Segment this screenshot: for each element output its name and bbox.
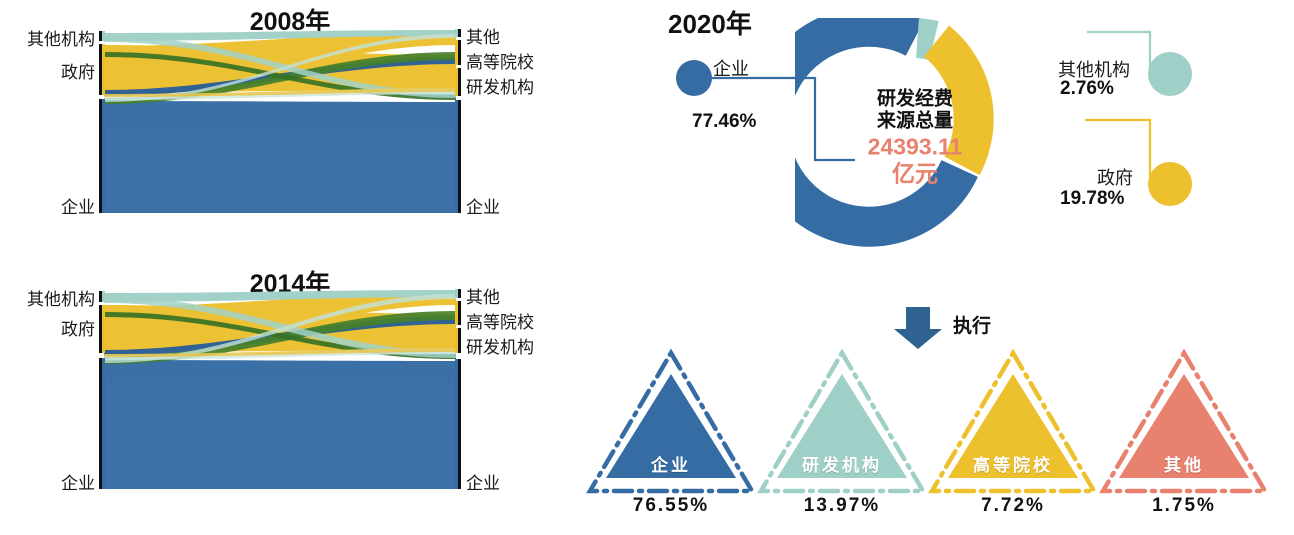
sankey-2008-canvas: [0, 0, 560, 240]
legend-percent-other-inst: 2.76%: [1060, 78, 1114, 100]
sankey-2008: 2008年 其他机构 政府 企业 其他 高等院校 研发机构 企业: [0, 0, 560, 240]
legend-percent-enterprise: 77.46%: [692, 111, 756, 133]
triangle-percent-other: 1.75%: [1099, 495, 1269, 517]
sankey-2014-canvas: [0, 264, 560, 516]
triangle-card-enterprise: 企业: [586, 348, 756, 498]
donut-leader-lines: [640, 0, 1294, 290]
triangle-label-other: 其他: [1099, 451, 1269, 476]
triangle-label-rnd-inst: 研发机构: [757, 451, 927, 476]
legend-dot-other-inst: [1148, 52, 1192, 96]
triangle-percent-enterprise: 76.55%: [586, 495, 756, 517]
triangle-card-university: 高等院校: [928, 348, 1098, 498]
sankey-2014: 2014年 其他机构 政府 企业 其他 高等院校 研发机构 企业: [0, 264, 560, 516]
triangle-card-other: 其他: [1099, 348, 1269, 498]
triangle-card-rnd-inst: 研发机构: [757, 348, 927, 498]
triangle-label-enterprise: 企业: [586, 451, 756, 476]
triangle-percent-rnd-inst: 13.97%: [757, 495, 927, 517]
execute-arrow-icon: [892, 305, 948, 351]
triangle-percent-university: 7.72%: [928, 495, 1098, 517]
legend-percent-government: 19.78%: [1060, 188, 1124, 210]
legend-dot-government: [1148, 162, 1192, 206]
legend-label-government: 政府: [1097, 164, 1133, 190]
legend-label-enterprise: 企业: [713, 55, 749, 81]
legend-dot-enterprise: [676, 60, 712, 96]
triangle-label-university: 高等院校: [928, 451, 1098, 476]
execute-label: 执行: [953, 311, 991, 338]
